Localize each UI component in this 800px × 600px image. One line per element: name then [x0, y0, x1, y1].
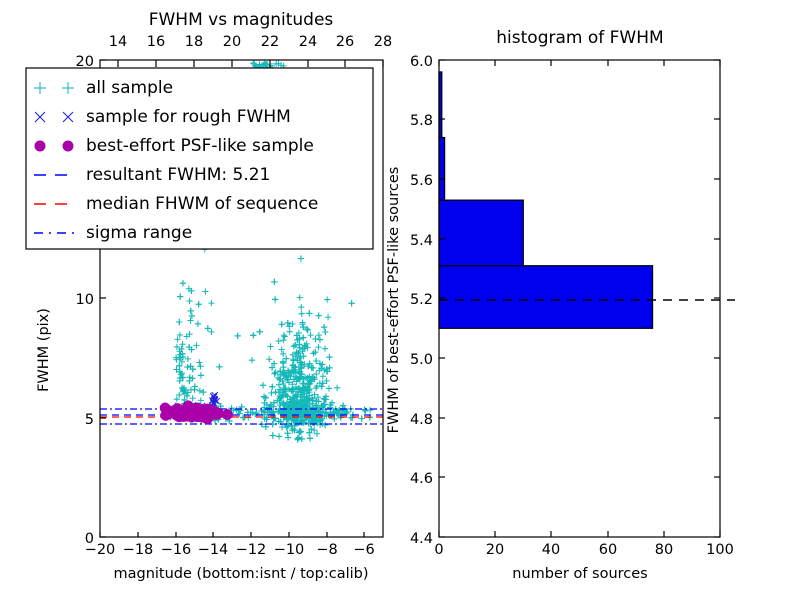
scatter-point: [200, 389, 206, 395]
scatter-point: [187, 317, 193, 323]
xtick-label: 100: [706, 542, 734, 558]
scatter-point: [252, 411, 258, 417]
scatter-point: [316, 332, 322, 338]
scatter-point: [326, 354, 332, 360]
xtick-top-label: 24: [299, 34, 317, 50]
scatter-point: [235, 333, 241, 339]
scatter-point: [326, 385, 332, 391]
scatter-point: [307, 435, 313, 441]
xtick-label: 80: [655, 542, 673, 558]
xtick-label: −10: [274, 542, 305, 558]
scatter-point: [324, 296, 330, 302]
scatter-point: [163, 409, 173, 419]
scatter-point: [187, 298, 193, 304]
scatter-point: [299, 436, 305, 442]
right-yaxis-label: FWHM of best-effort PSF-like sources: [386, 167, 402, 434]
scatter-point: [281, 385, 287, 391]
scatter-point: [280, 337, 286, 343]
histogram-bar: [439, 266, 653, 329]
xtick-top-label: 28: [374, 34, 392, 50]
scatter-point: [316, 313, 322, 319]
scatter-point: [189, 313, 195, 319]
scatter-point: [192, 383, 198, 389]
scatter-point: [208, 329, 214, 335]
scatter-point: [269, 384, 275, 390]
scatter-point: [184, 364, 190, 370]
xtick-label: 20: [486, 542, 504, 558]
xtick-label: −8: [316, 542, 337, 558]
histogram-bar: [439, 200, 523, 266]
scatter-point: [188, 308, 194, 314]
scatter-point: [283, 355, 289, 361]
scatter-point: [205, 325, 211, 331]
scatter-point: [270, 432, 276, 438]
scatter-point: [325, 314, 331, 320]
scatter-point: [280, 364, 286, 370]
xtick-top-label: 22: [261, 34, 279, 50]
scatter-point: [367, 407, 373, 413]
scatter-point: [276, 382, 282, 388]
scatter-point: [198, 397, 204, 403]
right-yaxis-labels: 4.4 4.6 4.8 5.0 5.2 5.4 5.6 5.8 6.0: [410, 54, 433, 547]
scatter-point: [279, 346, 285, 352]
scatter-point: [322, 422, 328, 428]
plot-svg: −20 −18 −16 −14 −12 −10 −8 −6 14 16 18 2…: [0, 0, 800, 600]
xtick-top-label: 26: [336, 34, 354, 50]
scatter-point: [271, 279, 277, 285]
scatter-point: [266, 356, 272, 362]
legend-label: sigma range: [86, 223, 192, 243]
scatter-point: [249, 357, 255, 363]
scatter-point: [198, 372, 204, 378]
scatter-point: [315, 344, 321, 350]
scatter-point: [190, 395, 196, 401]
scatter-point: [349, 300, 355, 306]
scatter-point: [334, 385, 340, 391]
scatter-point: [321, 324, 327, 330]
ytick-label: 5.0: [410, 352, 433, 368]
scatter-point: [197, 363, 203, 369]
scatter-point: [320, 373, 326, 379]
xtick-label: 40: [542, 542, 560, 558]
scatter-point: [268, 390, 274, 396]
right-xaxis-labels: 0 20 40 60 80 100: [434, 542, 733, 558]
xtick-label: −12: [236, 542, 267, 558]
scatter-point: [299, 311, 305, 317]
scatter-point: [212, 409, 222, 419]
ytick-label: 0: [85, 531, 94, 547]
ytick-label: 5.2: [410, 292, 433, 308]
ytick-label: 5.6: [410, 173, 433, 189]
scatter-point: [272, 296, 278, 302]
scatter-point: [180, 280, 186, 286]
xtick-label: −18: [123, 542, 154, 558]
scatter-point: [197, 388, 203, 394]
ytick-label: 4.4: [410, 531, 433, 547]
legend-label: best-effort PSF-like sample: [86, 136, 314, 156]
scatter-point: [307, 332, 313, 338]
scatter-point: [271, 371, 277, 377]
xtick-label: −16: [161, 542, 192, 558]
scatter-point: [193, 342, 199, 348]
scatter-point: [340, 403, 346, 409]
ytick-label: 5: [85, 412, 94, 428]
scatter-point: [179, 341, 185, 347]
scatter-point: [276, 338, 282, 344]
scatter-point: [285, 320, 291, 326]
ytick-label: 6.0: [410, 54, 433, 70]
xtick-label: 0: [434, 542, 443, 558]
scatter-point: [195, 321, 201, 327]
right-xaxis-label: number of sources: [512, 566, 648, 582]
scatter-point: [280, 351, 286, 357]
xtick-label: 60: [599, 542, 617, 558]
scatter-point: [196, 359, 202, 365]
legend-label: sample for rough FWHM: [86, 107, 291, 127]
scatter-point: [191, 404, 201, 414]
scatter-point: [202, 288, 208, 294]
scatter-point: [317, 336, 323, 342]
legend-label: all sample: [86, 78, 173, 98]
scatter-point: [305, 327, 311, 333]
scatter-point: [297, 295, 303, 301]
histogram-bar: [439, 138, 445, 201]
scatter-point: [177, 294, 183, 300]
left-panel-title: FWHM vs magnitudes: [149, 10, 334, 30]
scatter-point: [287, 329, 293, 335]
left-xaxis-top-labels: 14 16 18 20 22 24 26 28: [109, 34, 392, 50]
scatter-point: [306, 310, 312, 316]
scatter-point: [312, 336, 318, 342]
scatter-point: [322, 329, 328, 335]
scatter-point: [257, 329, 263, 335]
scatter-point: [267, 343, 273, 349]
histogram-bars: [439, 72, 653, 328]
right-panel: 0 20 40 60 80 100: [386, 28, 735, 582]
legend-label: median FHWM of sequence: [86, 194, 318, 214]
scatter-point: [216, 364, 222, 370]
scatter-point: [208, 300, 214, 306]
left-xaxis-label: magnitude (bottom:isnt / top:calib): [113, 566, 368, 582]
scatter-point: [327, 405, 333, 411]
scatter-point: [260, 382, 266, 388]
ytick-label: 5.8: [410, 113, 433, 129]
ytick-label: 10: [76, 292, 94, 308]
scatter-point: [250, 332, 256, 338]
scatter-point: [276, 433, 282, 439]
scatter-psf-like-sample: [160, 401, 233, 424]
scatter-point: [297, 428, 303, 434]
xtick-top-label: 18: [185, 34, 203, 50]
scatter-point: [280, 359, 286, 365]
scatter-point: [359, 415, 365, 421]
scatter-point: [279, 321, 285, 327]
xtick-top-label: 14: [109, 34, 127, 50]
legend-box: [26, 68, 373, 249]
scatter-point: [285, 434, 291, 440]
left-xaxis-bottom-labels: −20 −18 −16 −14 −12 −10 −8 −6: [85, 542, 375, 558]
scatter-point: [314, 431, 320, 437]
scatter-point: [300, 335, 306, 341]
scatter-point: [196, 301, 202, 307]
right-panel-title: histogram of FWHM: [496, 28, 663, 48]
scatter-point: [298, 255, 304, 261]
scatter-point: [298, 304, 304, 310]
scatter-point: [291, 343, 297, 349]
ytick-label: 5.4: [410, 233, 433, 249]
scatter-point: [322, 346, 328, 352]
figure-canvas: −20 −18 −16 −14 −12 −10 −8 −6 14 16 18 2…: [0, 0, 800, 600]
scatter-point: [361, 407, 367, 413]
ytick-label: 4.6: [410, 471, 433, 487]
xtick-top-label: 20: [223, 34, 241, 50]
left-yaxis-label: FWHM (pix): [36, 308, 52, 392]
scatter-point: [176, 319, 182, 325]
legend-label: resultant FWHM: 5.21: [86, 165, 270, 185]
xtick-top-label: 16: [147, 34, 165, 50]
xtick-label: −14: [198, 542, 229, 558]
ytick-label: 4.8: [410, 412, 433, 428]
legend[interactable]: all sample sample for rough FWHM best-ef…: [26, 68, 373, 249]
xtick-label: −6: [353, 542, 374, 558]
left-xaxis-bottom-ticks: [100, 532, 364, 537]
scatter-point: [281, 332, 287, 338]
scatter-point: [282, 333, 288, 339]
